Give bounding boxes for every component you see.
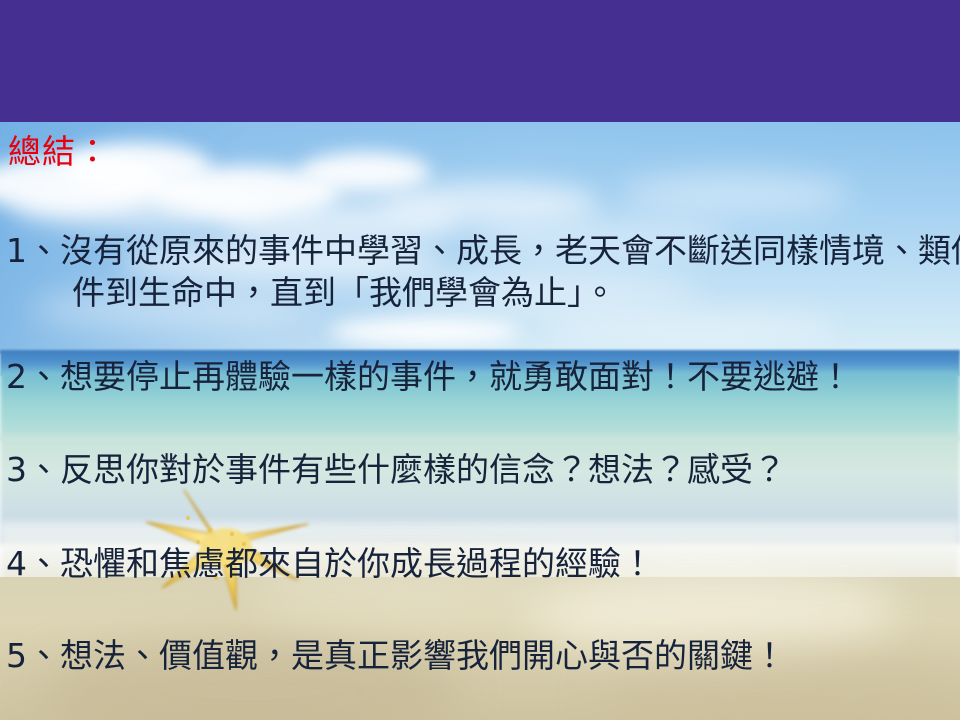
bullet-item-3: 3、反思你對於事件有些什麼樣的信念？想法？感受？	[6, 449, 956, 491]
summary-label: 總結：	[8, 132, 110, 172]
slide: 你的痛苦來自你的信念 總結： 1、沒有從原來的事件中學習、成長，老天會不斷送同樣…	[0, 0, 960, 720]
slide-body: 總結： 1、沒有從原來的事件中學習、成長，老天會不斷送同樣情境、類似事件到生命中…	[0, 122, 960, 720]
title-banner	[0, 0, 960, 122]
bullet-item-2: 2、想要停止再體驗一樣的事件，就勇敢面對！不要逃避！	[6, 356, 956, 398]
bullet-item-4: 4、恐懼和焦慮都來自於你成長過程的經驗！	[6, 543, 956, 585]
bullet-item-1: 1、沒有從原來的事件中學習、成長，老天會不斷送同樣情境、類似事件到生命中，直到「…	[6, 230, 960, 314]
bullet-item-5: 5、想法、價值觀，是真正影響我們開心與否的關鍵！	[6, 635, 956, 677]
